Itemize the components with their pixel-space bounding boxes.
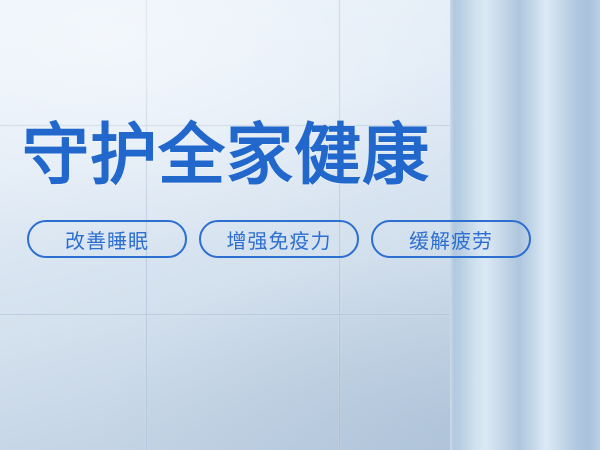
benefit-tag-relieve-fatigue[interactable]: 缓解疲劳: [371, 220, 531, 258]
benefit-tag-improve-sleep[interactable]: 改善睡眠: [27, 220, 187, 258]
promo-banner: 守护全家健康 改善睡眠 增强免疫力 缓解疲劳: [0, 0, 600, 450]
benefit-tag-list: 改善睡眠 增强免疫力 缓解疲劳: [27, 220, 531, 258]
banner-content: 守护全家健康 改善睡眠 增强免疫力 缓解疲劳: [0, 0, 600, 450]
benefit-tag-label: 缓解疲劳: [409, 225, 493, 254]
benefit-tag-label: 增强免疫力: [227, 225, 332, 254]
benefit-tag-boost-immunity[interactable]: 增强免疫力: [199, 220, 359, 258]
headline-text: 守护全家健康: [22, 118, 430, 194]
benefit-tag-label: 改善睡眠: [65, 225, 149, 254]
